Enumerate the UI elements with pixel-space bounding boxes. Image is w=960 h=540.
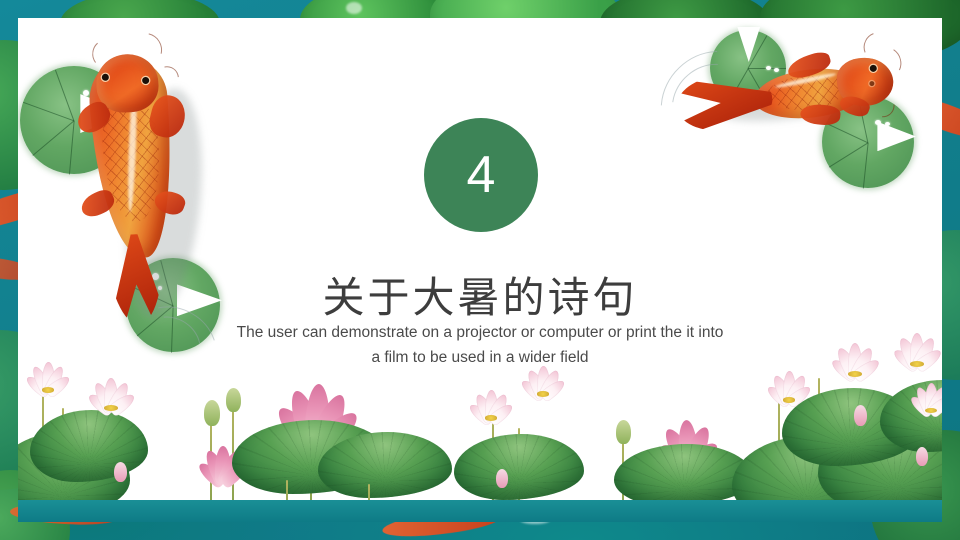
lotus-flower — [80, 376, 142, 412]
water-strip — [18, 500, 942, 522]
presentation-slide: 4 关于大暑的诗句 The user can demonstrate on a … — [0, 0, 960, 540]
page-subtitle: The user can demonstrate on a projector … — [18, 320, 942, 370]
page-title: 关于大暑的诗句 — [18, 264, 942, 325]
lotus-flower — [760, 370, 818, 404]
lotus-leaf — [454, 434, 584, 500]
slide-number-label: 4 — [467, 149, 496, 201]
slide-content-card: 4 关于大暑的诗句 The user can demonstrate on a … — [18, 18, 942, 522]
lotus-bud — [226, 388, 241, 412]
lotus-bud — [114, 462, 127, 482]
lotus-flower — [904, 382, 942, 414]
subtitle-line-1: The user can demonstrate on a projector … — [18, 320, 942, 345]
lotus-leaf — [30, 410, 148, 482]
slide-number-badge: 4 — [424, 118, 538, 232]
lotus-leaf — [318, 432, 452, 498]
lotus-bud — [616, 420, 631, 444]
lotus-flower — [462, 388, 520, 422]
subtitle-line-2: a film to be used in a wider field — [18, 345, 942, 370]
lotus-bud — [854, 405, 867, 426]
lotus-bud — [916, 447, 928, 466]
background-droplet-1 — [346, 2, 362, 14]
lotus-decoration-band — [18, 347, 942, 522]
lotus-bud — [496, 469, 508, 488]
lotus-bud — [204, 400, 220, 426]
